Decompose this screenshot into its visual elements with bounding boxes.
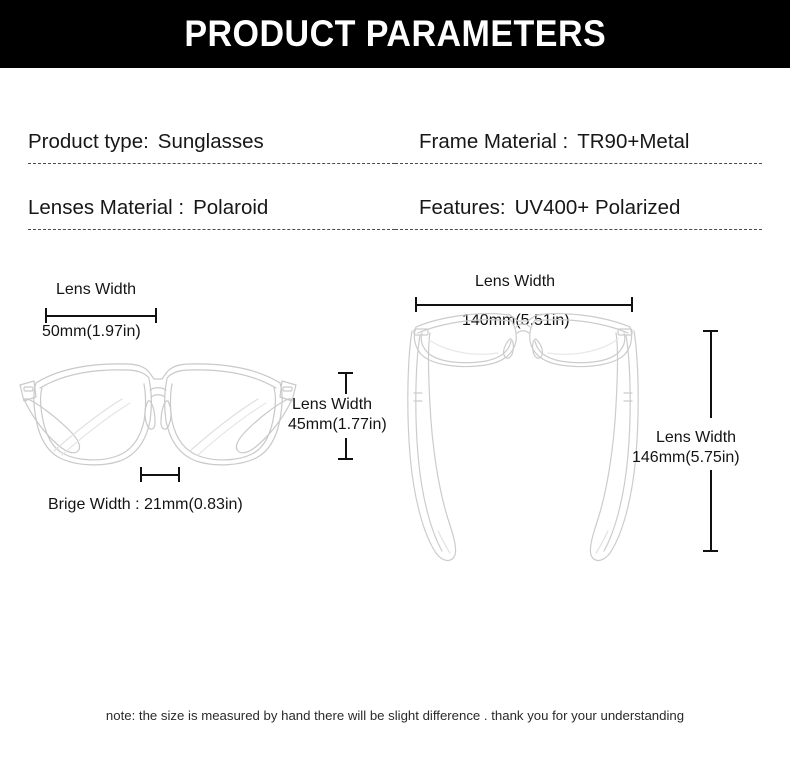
front-lens-width-label: Lens Width [56,280,136,300]
lens-height-label: Lens Width [292,395,372,415]
bridge-width-dimension-line [140,474,180,476]
bridge-width-value: Brige Width : 21mm(0.83in) [48,495,243,515]
temple-length-dimension-line-bottom [710,470,712,552]
parameter-label: Product type: [28,130,149,154]
temple-length-value: 146mm(5.75in) [632,448,740,468]
temple-length-dimension-line-top [710,330,712,418]
parameter-row: Product type: Sunglasses Frame Material … [28,130,762,164]
front-lens-width-value: 50mm(1.97in) [42,322,141,342]
parameter-frame-material: Frame Material : TR90+Metal [395,130,762,164]
parameter-features: Features: UV400+ Polarized [395,196,762,230]
parameter-value: Sunglasses [158,130,264,154]
parameter-value: UV400+ Polarized [515,196,681,220]
parameter-product-type: Product type: Sunglasses [28,130,395,164]
parameter-value: Polaroid [193,196,268,220]
page-title: PRODUCT PARAMETERS [184,13,606,55]
product-parameters-table: Product type: Sunglasses Frame Material … [28,130,762,230]
lens-height-dimension-line-bottom [345,438,347,460]
parameter-label: Lenses Material : [28,196,184,220]
glasses-top-view-illustration [398,305,648,570]
measurement-note: note: the size is measured by hand there… [0,708,790,723]
parameter-label: Features: [419,196,506,220]
lens-height-value: 45mm(1.77in) [288,415,387,435]
temple-length-label: Lens Width [656,428,736,448]
glasses-front-view-illustration [18,355,298,485]
parameter-lenses-material: Lenses Material : Polaroid [28,196,395,230]
page-header-banner: PRODUCT PARAMETERS [0,0,790,68]
front-lens-width-dimension-line [45,315,157,317]
parameter-value: TR90+Metal [577,130,689,154]
parameter-row: Lenses Material : Polaroid Features: UV4… [28,164,762,230]
lens-height-dimension-line-top [345,372,347,394]
parameter-label: Frame Material : [419,130,568,154]
frame-width-label: Lens Width [475,272,555,292]
dimension-diagrams: Lens Width 50mm(1.97in) [0,270,790,700]
